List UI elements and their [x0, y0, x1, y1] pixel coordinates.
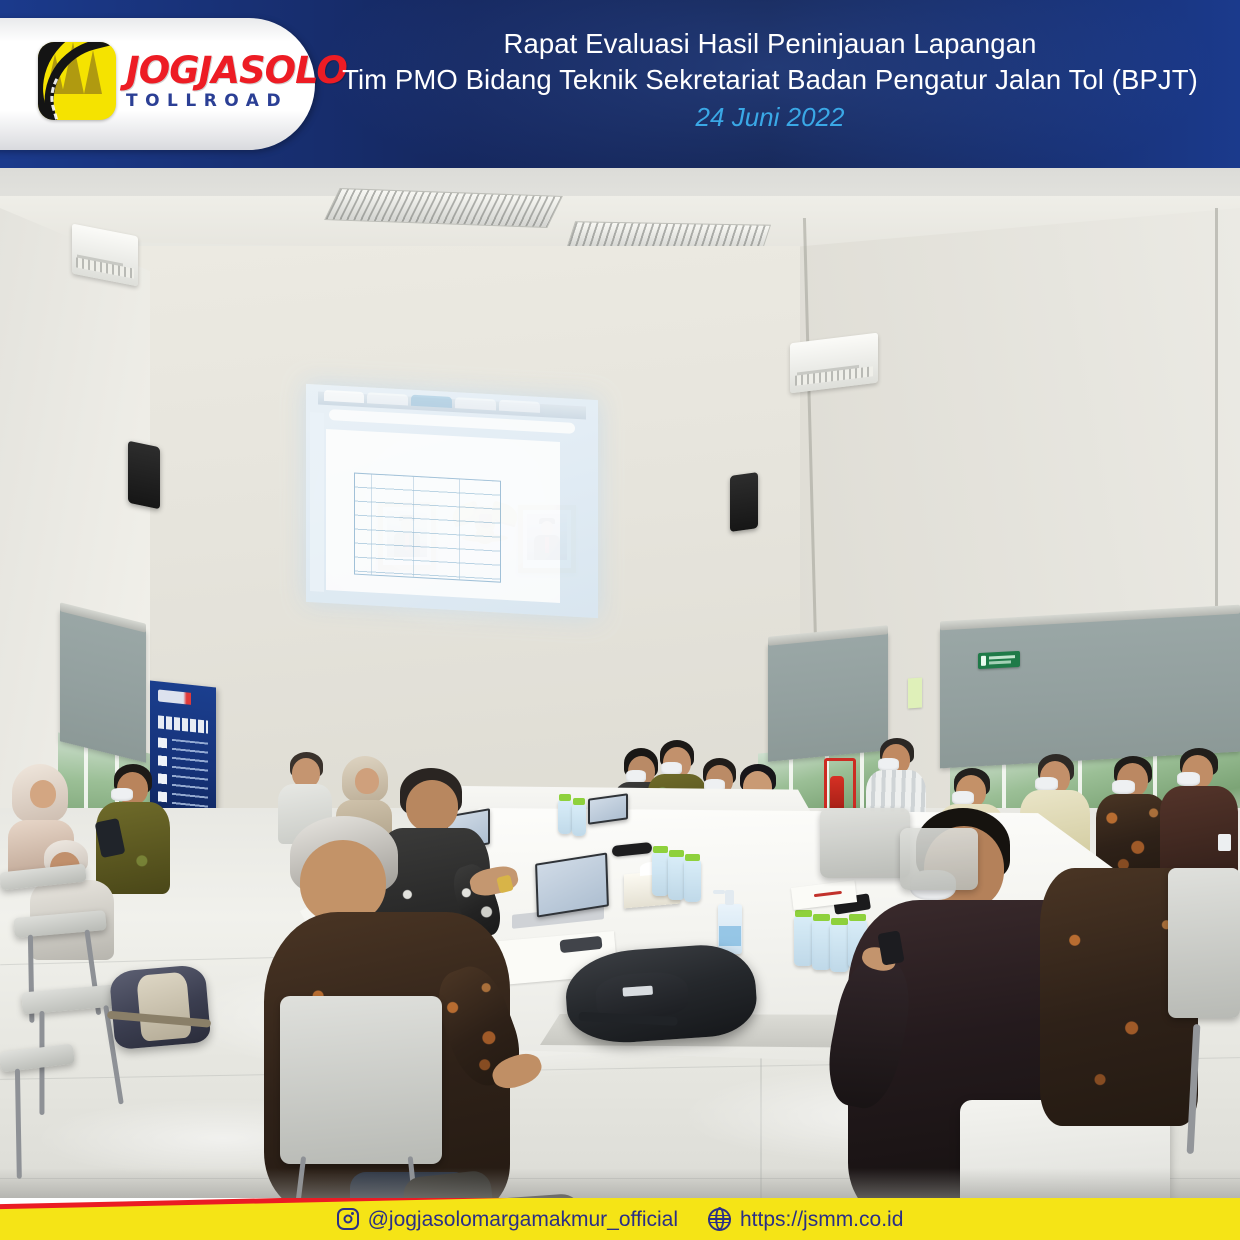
- projection-screen: [306, 384, 598, 618]
- header-title-block: Rapat Evaluasi Hasil Peninjauan Lapangan…: [310, 26, 1230, 135]
- water-bottle: [668, 856, 685, 900]
- brand-logo[interactable]: JOGJASOLO TOLLROAD: [38, 38, 288, 126]
- attendee: [30, 840, 116, 960]
- water-bottle: [812, 920, 831, 970]
- laptop: [535, 852, 609, 917]
- wall-notice: [908, 678, 922, 709]
- hand-sanitizer-bottle: [718, 904, 742, 954]
- document-table: [354, 472, 501, 582]
- projected-document: [326, 429, 560, 603]
- water-bottle: [572, 804, 586, 836]
- photo-vignette: [0, 1168, 1240, 1198]
- instagram-handle: @jogjasolomargamakmur_official: [368, 1209, 678, 1230]
- folding-chair: [1168, 868, 1240, 1018]
- evacuation-sign-icon: [978, 651, 1020, 669]
- meeting-photo: [0, 168, 1240, 1198]
- water-bottle: [684, 860, 701, 902]
- header-title-line1: Rapat Evaluasi Hasil Peninjauan Lapangan: [310, 26, 1230, 62]
- website-contact[interactable]: https://jsmm.co.id: [708, 1208, 903, 1231]
- roller-blind: [940, 612, 1240, 769]
- wall-speaker-icon: [128, 441, 160, 510]
- folding-chair: [900, 828, 978, 890]
- poster-container: JOGJASOLO TOLLROAD Rapat Evaluasi Hasil …: [0, 0, 1240, 1240]
- app-sidebar: [310, 412, 323, 591]
- folding-chair: [280, 996, 442, 1164]
- instagram-icon: [337, 1208, 359, 1230]
- header-date: 24 Juni 2022: [310, 100, 1230, 135]
- water-bottle: [652, 852, 669, 896]
- instagram-contact[interactable]: @jogjasolomargamakmur_official: [337, 1208, 678, 1230]
- globe-icon: [708, 1208, 731, 1231]
- water-bottle: [558, 800, 572, 834]
- wall-speaker-icon: [730, 472, 758, 532]
- website-url: https://jsmm.co.id: [740, 1209, 903, 1230]
- footer-bar: @jogjasolomargamakmur_official https://j…: [0, 1198, 1240, 1240]
- header-title-line2: Tim PMO Bidang Teknik Sekretariat Badan …: [310, 62, 1230, 98]
- folding-chair: [820, 808, 910, 878]
- floor-bag: [109, 964, 211, 1050]
- water-bottle: [830, 924, 849, 972]
- water-bottle: [794, 916, 813, 966]
- attendee: [1160, 748, 1240, 878]
- header-banner: JOGJASOLO TOLLROAD Rapat Evaluasi Hasil …: [0, 0, 1240, 168]
- tollroad-logo-icon: [38, 42, 116, 120]
- id-badge: [1218, 834, 1231, 851]
- roller-blind: [60, 609, 146, 762]
- footer-content: @jogjasolomargamakmur_official https://j…: [0, 1198, 1240, 1240]
